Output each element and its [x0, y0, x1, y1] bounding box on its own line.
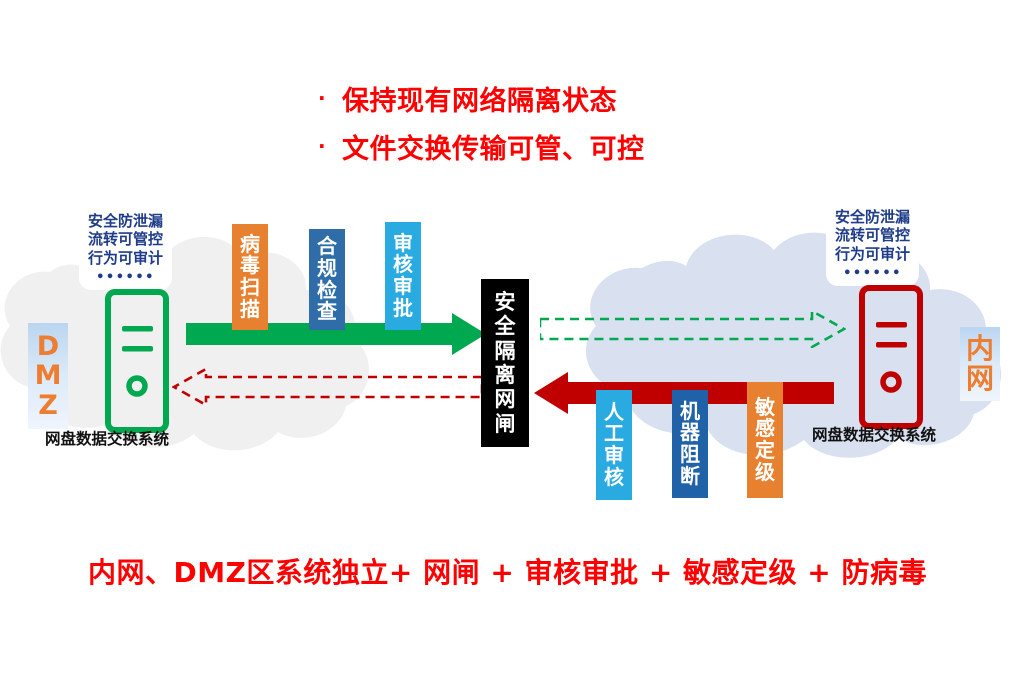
step-char: 审: [393, 276, 413, 298]
bullet-item: · 保持现有网络隔离状态: [318, 74, 858, 122]
step-label-compliance-check[interactable]: 合 规 检 查: [309, 229, 345, 330]
server-icon-dmz: [104, 288, 170, 434]
zone-dmz-char: D: [37, 332, 59, 361]
callout-dmz-line: 安全防泄漏: [88, 212, 163, 230]
step-char: 阻: [680, 444, 700, 466]
callout-dmz-line: 行为可审计: [88, 249, 163, 267]
step-char: 敏: [755, 397, 775, 419]
callout-intranet-line: 行为可审计: [835, 245, 910, 263]
zone-intranet-char: 网: [966, 364, 994, 394]
summary-caption: 内网、DMZ区系统独立+ 网闸 + 审核审批 + 敏感定级 + 防病毒: [0, 551, 1015, 591]
server-caption-dmz: 网盘数据交换系统: [45, 427, 169, 449]
step-char: 工: [604, 423, 624, 445]
zone-label-dmz: D M Z: [28, 323, 68, 429]
bullet-dot-icon: ·: [318, 88, 342, 108]
zone-dmz-char: Z: [38, 391, 58, 420]
bullet-text: 文件交换传输可管、可控: [342, 127, 645, 166]
step-char: 检: [317, 280, 337, 302]
callout-intranet-ellipsis: ••••••: [835, 266, 910, 282]
step-char: 感: [755, 418, 775, 440]
gateway-char: 闸: [495, 412, 516, 436]
gateway-char: 全: [495, 314, 516, 338]
arrow-gateway-to-dmz: [172, 368, 482, 406]
step-char: 人: [604, 402, 624, 424]
step-char: 描: [240, 299, 260, 321]
gateway-char: 网: [495, 387, 516, 411]
step-char: 合: [317, 236, 337, 258]
server-caption-intranet: 网盘数据交换系统: [812, 423, 936, 445]
callout-intranet-line: 安全防泄漏: [835, 208, 910, 226]
step-label-machine-block[interactable]: 机 器 阻 断: [672, 390, 708, 498]
headline-bullets: · 保持现有网络隔离状态 · 文件交换传输可管、可控: [318, 74, 858, 170]
diagram-canvas: · 保持现有网络隔离状态 · 文件交换传输可管、可控 D M Z 内 网 安全防…: [0, 0, 1015, 675]
step-char: 核: [393, 254, 413, 276]
callout-dmz: 安全防泄漏 流转可管控 行为可审计 ••••••: [79, 206, 172, 290]
bullet-dot-icon: ·: [318, 136, 342, 156]
bullet-text: 保持现有网络隔离状态: [342, 79, 617, 118]
step-char: 断: [680, 466, 700, 488]
step-char: 级: [755, 462, 775, 484]
step-char: 扫: [240, 277, 260, 299]
bullet-item: · 文件交换传输可管、可控: [318, 122, 858, 170]
step-char: 规: [317, 258, 337, 280]
step-label-review-approval[interactable]: 审 核 审 批: [385, 222, 421, 330]
step-label-sensitivity-grading[interactable]: 敏 感 定 级: [747, 382, 783, 498]
step-char: 器: [680, 422, 700, 444]
zone-intranet-char: 内: [966, 334, 994, 364]
step-char: 病: [240, 234, 260, 256]
step-label-virus-scan[interactable]: 病 毒 扫 描: [232, 224, 268, 330]
security-gateway-box[interactable]: 安 全 隔 离 网 闸: [481, 279, 529, 447]
step-char: 审: [393, 233, 413, 255]
server-icon-intranet: [858, 284, 924, 430]
gateway-char: 安: [495, 290, 516, 314]
step-char: 机: [680, 401, 700, 423]
step-label-manual-review[interactable]: 人 工 审 核: [596, 390, 632, 500]
step-char: 核: [604, 467, 624, 489]
zone-dmz-char: M: [35, 361, 62, 390]
step-char: 毒: [240, 255, 260, 277]
step-char: 查: [317, 301, 337, 323]
callout-dmz-line: 流转可管控: [88, 230, 163, 248]
callout-intranet: 安全防泄漏 流转可管控 行为可审计 ••••••: [826, 202, 919, 286]
gateway-char: 隔: [495, 339, 516, 363]
step-char: 定: [755, 440, 775, 462]
step-char: 审: [604, 445, 624, 467]
callout-intranet-line: 流转可管控: [835, 226, 910, 244]
arrow-gateway-to-intranet: [540, 310, 846, 348]
step-char: 批: [393, 298, 413, 320]
callout-dmz-ellipsis: ••••••: [88, 270, 163, 286]
gateway-char: 离: [495, 363, 516, 387]
zone-label-intranet: 内 网: [960, 327, 1000, 401]
